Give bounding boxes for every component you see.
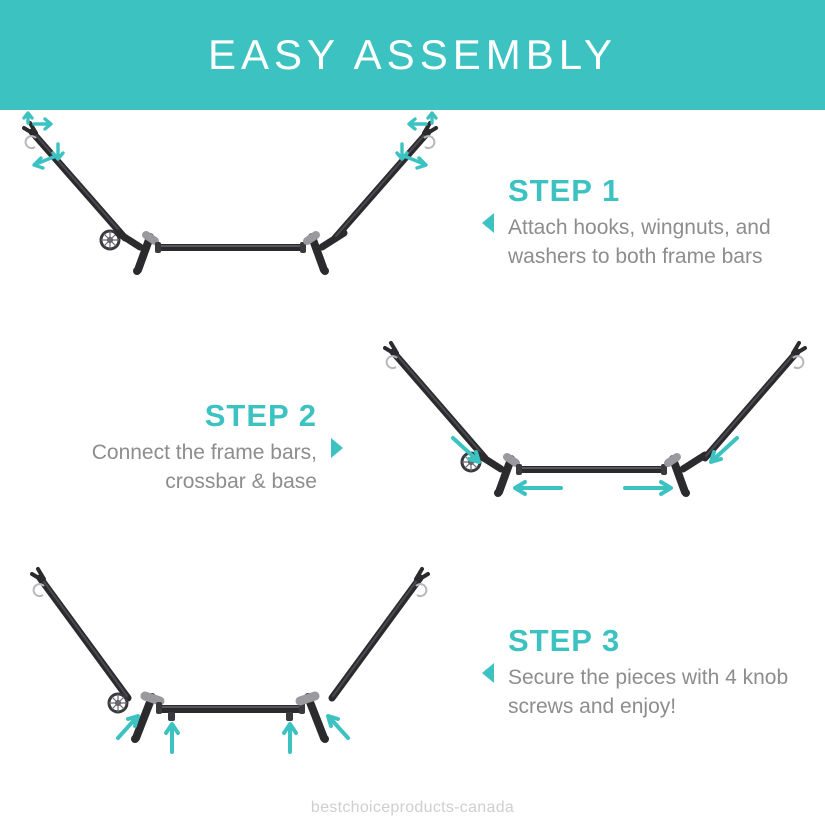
left-wheel-icon: [109, 694, 127, 712]
right-frame-bar: [335, 123, 436, 238]
step-2-description: Connect the frame bars, crossbar & base: [7, 438, 317, 498]
triangle-right-icon: [331, 438, 343, 458]
step-3-illustration: [0, 560, 460, 785]
page-title: EASY ASSEMBLY: [208, 31, 617, 79]
step-3-title: STEP 3: [508, 623, 818, 659]
left-frame-bar: [24, 123, 125, 238]
step-1-title: STEP 1: [508, 173, 818, 209]
step-3-block: STEP 3 Secure the pieces with 4 knob scr…: [508, 623, 818, 722]
step-1-text-cell: STEP 1 Attach hooks, wingnuts, and washe…: [460, 110, 825, 335]
step-1-illustration: [0, 110, 460, 335]
step-3-text-cell: STEP 3 Secure the pieces with 4 knob scr…: [460, 560, 825, 785]
triangle-left-icon: [482, 213, 494, 233]
right-frame-bar: [332, 569, 428, 698]
hammock-parts-diagram-2: [365, 340, 825, 555]
crossbar: [155, 242, 306, 253]
right-base-leg: [300, 696, 329, 743]
step-2-title: STEP 2: [7, 398, 317, 434]
step-row-3: STEP 3 Secure the pieces with 4 knob scr…: [0, 560, 825, 785]
step-3-description: Secure the pieces with 4 knob screws and…: [508, 663, 818, 723]
triangle-left-icon: [482, 663, 494, 683]
hammock-assembled-diagram-3: [0, 560, 460, 785]
footer-watermark: bestchoiceproducts-canada: [0, 799, 825, 817]
hammock-parts-diagram-1: [0, 110, 460, 335]
right-frame-bar: [705, 343, 805, 458]
knob-screw-markers: [168, 712, 293, 721]
steps-container: STEP 1 Attach hooks, wingnuts, and washe…: [0, 110, 825, 825]
step-1-block: STEP 1 Attach hooks, wingnuts, and washe…: [508, 173, 818, 272]
step-1-description: Attach hooks, wingnuts, and washers to b…: [508, 213, 818, 273]
crossbar: [156, 702, 305, 714]
step-row-2: STEP 2 Connect the frame bars, crossbar …: [0, 340, 825, 555]
step-row-1: STEP 1 Attach hooks, wingnuts, and washe…: [0, 110, 825, 335]
step-2-illustration: [365, 340, 825, 555]
left-frame-bar: [32, 569, 128, 698]
crossbar: [516, 464, 667, 475]
left-frame-bar: [385, 343, 485, 458]
header-banner: EASY ASSEMBLY: [0, 0, 825, 110]
step-2-block: STEP 2 Connect the frame bars, crossbar …: [7, 398, 317, 497]
step-2-text-cell: STEP 2 Connect the frame bars, crossbar …: [0, 340, 365, 555]
